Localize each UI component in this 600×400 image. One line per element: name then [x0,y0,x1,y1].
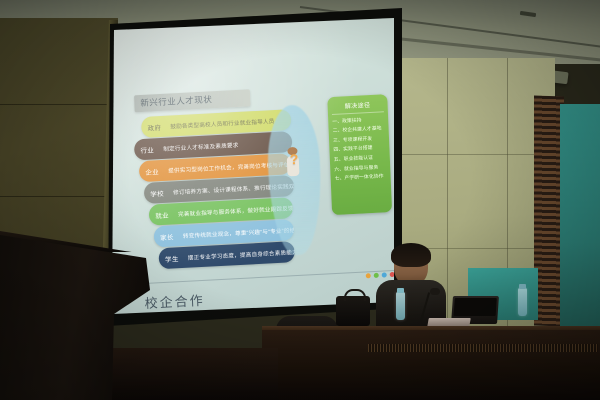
table-left-section [108,348,278,400]
slide-row-tag: 政府 [141,116,168,138]
slide-row-text: 摆正专业学习态度，提高自身综合素质能力 [185,248,295,262]
water-bottle-left [396,292,405,320]
solutions-item: 五、职业技能认证 [334,153,386,163]
slide-footer-text: 校企合作 [144,290,205,312]
question-mark-icon: ? [289,151,298,167]
slide-row-text: 鼓励各类型高校人员和行业就业指导人员 [167,117,274,131]
water-bottle-right [518,288,527,316]
solutions-item: 七、产学研一体化协作 [335,172,387,182]
table-front-grille [368,344,598,352]
solutions-panel: 解决途径 一、政策扶持 二、校企共建人才基地 三、专项课程开发 四、实践平台搭建… [327,94,392,215]
solutions-item: 二、校企共建人才基地 [333,124,385,134]
slide-row-tag: 学生 [158,247,185,269]
solutions-item: 三、专项课程开发 [333,134,385,144]
shoulder-bag [336,296,370,326]
presentation-slide: 新兴行业人才现状 政府 鼓励各类型高校人员和行业就业指导人员 行业 制定行业人才… [120,34,394,298]
slide-title: 新兴行业人才现状 [134,89,251,112]
solutions-panel-title: 解决途径 [331,97,384,115]
microphone-head-icon [430,288,440,295]
slide-row-tag: 家长 [154,225,181,247]
slide-row-tag: 企业 [139,160,166,182]
projection-screen: 新兴行业人才现状 政府 鼓励各类型高校人员和行业就业指导人员 行业 制定行业人才… [112,18,394,314]
solutions-item: 六、就业指导与服务 [334,163,386,173]
slide-row-tag: 就业 [149,203,176,225]
slide-row-text: 制定行业人才标准及素质要求 [160,140,239,152]
teal-wall-right [560,104,600,334]
slide-row-tag: 学校 [144,182,171,204]
ceiling-vent [520,11,536,17]
speaker-hair [391,243,431,267]
conference-table [262,330,600,400]
solutions-item: 四、实践平台搭建 [333,144,385,154]
solutions-item: 一、政策扶持 [332,115,384,125]
slide-row-tag: 行业 [134,138,161,160]
photo-scene: 新兴行业人才现状 政府 鼓励各类型高校人员和行业就业指导人员 行业 制定行业人才… [0,0,600,400]
